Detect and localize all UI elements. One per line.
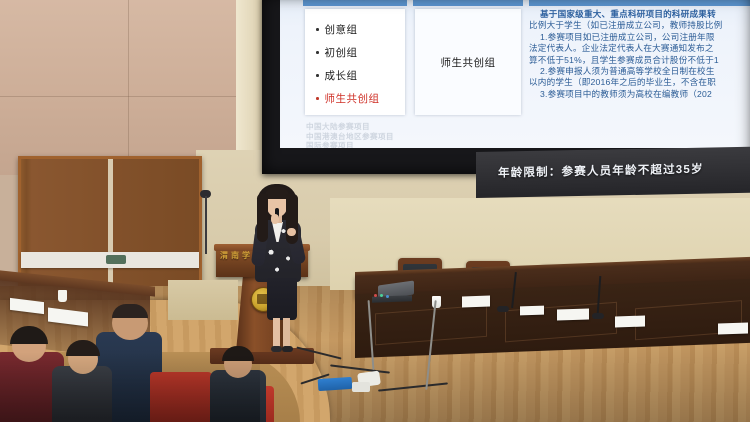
bullet-dot-icon [316, 28, 319, 31]
presenter-shoe-right [282, 346, 293, 352]
slide-header-track: 高教主赛道 [303, 0, 407, 6]
foreground-vignette [0, 352, 260, 422]
door-handle[interactable] [106, 255, 126, 264]
rules-line: 比例大于学生（如已注册成立公司，教师持股比例 [529, 20, 750, 31]
wall-seam [128, 0, 129, 175]
slide-card-track: 创意组 初创组 成长组 师生共创组 [305, 9, 405, 115]
stage-side-wall [168, 280, 238, 320]
rules-line: 算不低于51%，且学生参赛成员合计股份不低于1 [529, 55, 750, 66]
slide-header-group: 组别 [413, 0, 523, 6]
slide-content: 高教主赛道 组别 创意组 初创组 成长组 [280, 0, 750, 148]
document-sheet[interactable] [557, 308, 589, 320]
slide-header-rules [529, 0, 750, 6]
slide-footer-list: 中国大陆参赛项目 中国港澳台地区参赛项目 国际参赛项目 [306, 122, 394, 148]
table-microphone-base[interactable] [497, 306, 509, 312]
rules-line: 基于国家级重大、重点科研项目的科研成果转 [529, 9, 750, 20]
bullet-label-highlighted: 师生共创组 [325, 91, 380, 106]
paper-cup[interactable] [58, 290, 67, 302]
document-sheet[interactable] [718, 322, 748, 334]
presenter-leg-left [273, 318, 280, 348]
footer-line: 国际参赛项目 [306, 141, 394, 148]
footer-line: 中国大陆参赛项目 [306, 122, 394, 132]
slide-rules-text: 基于国家级重大、重点科研项目的科研成果转 比例大于学生（如已注册成立公司，教师持… [529, 9, 750, 100]
presenter [243, 178, 313, 353]
list-item: 成长组 [316, 64, 405, 87]
bullet-dot-icon [316, 74, 319, 77]
audience-member-hair [112, 304, 148, 318]
presenter-hand-right [287, 228, 296, 236]
bullet-dot-icon [316, 97, 319, 100]
presenter-shoe-left [271, 346, 282, 352]
list-item: 师生共创组 [316, 87, 405, 110]
secondary-display-banner: 年龄限制：参赛人员年龄不超过35岁 [476, 147, 750, 198]
wall-seam [0, 96, 270, 97]
presenter-hand-left [271, 214, 279, 224]
presenter-hair-right [286, 194, 298, 244]
table-microphone-base[interactable] [592, 313, 604, 319]
laptop-sticker-icon [386, 295, 389, 298]
rules-line: 法定代表人。企业法定代表人在大赛通知发布之 [529, 43, 750, 54]
presenter-leg-right [283, 318, 290, 348]
rules-line: 以内的学生（即2016年之后的毕业生，不含在职 [529, 77, 750, 88]
track-bullet-list: 创意组 初创组 成长组 师生共创组 [305, 9, 405, 110]
rules-line: 1.参赛项目如已注册成立公司，公司注册年限 [529, 32, 750, 43]
laptop-sticker-icon [374, 294, 377, 297]
document-sheet[interactable] [615, 315, 645, 327]
list-item: 创意组 [316, 18, 405, 41]
slide-group-cell-value: 师生共创组 [415, 9, 521, 115]
bullet-label: 初创组 [325, 45, 358, 60]
list-item: 初创组 [316, 41, 405, 64]
power-adapter[interactable] [352, 382, 370, 392]
presenter-hair-left [257, 194, 268, 242]
lecture-hall-photo: 高教主赛道 组别 创意组 初创组 成长组 [0, 0, 750, 422]
laptop-sticker-icon [380, 294, 383, 297]
bullet-label: 成长组 [325, 68, 358, 83]
rules-line: 2.参赛申报人须为普通高等学校全日制在校生 [529, 66, 750, 77]
document-sheet[interactable] [520, 306, 544, 316]
footer-line: 中国港澳台地区参赛项目 [306, 132, 394, 142]
banner-text: 年龄限制：参赛人员年龄不超过35岁 [498, 161, 704, 181]
power-strip[interactable] [318, 377, 353, 391]
floor-microphone-stand[interactable] [205, 196, 207, 254]
bullet-label: 创意组 [325, 22, 358, 37]
back-wall-left [0, 0, 270, 175]
bullet-dot-icon [316, 51, 319, 54]
document-sheet[interactable] [462, 296, 490, 308]
table-panel-inlay [635, 300, 742, 340]
rules-line: 3.参赛项目中的教师须为高校在编教师（202 [529, 89, 750, 100]
presenter-skirt [267, 278, 297, 320]
